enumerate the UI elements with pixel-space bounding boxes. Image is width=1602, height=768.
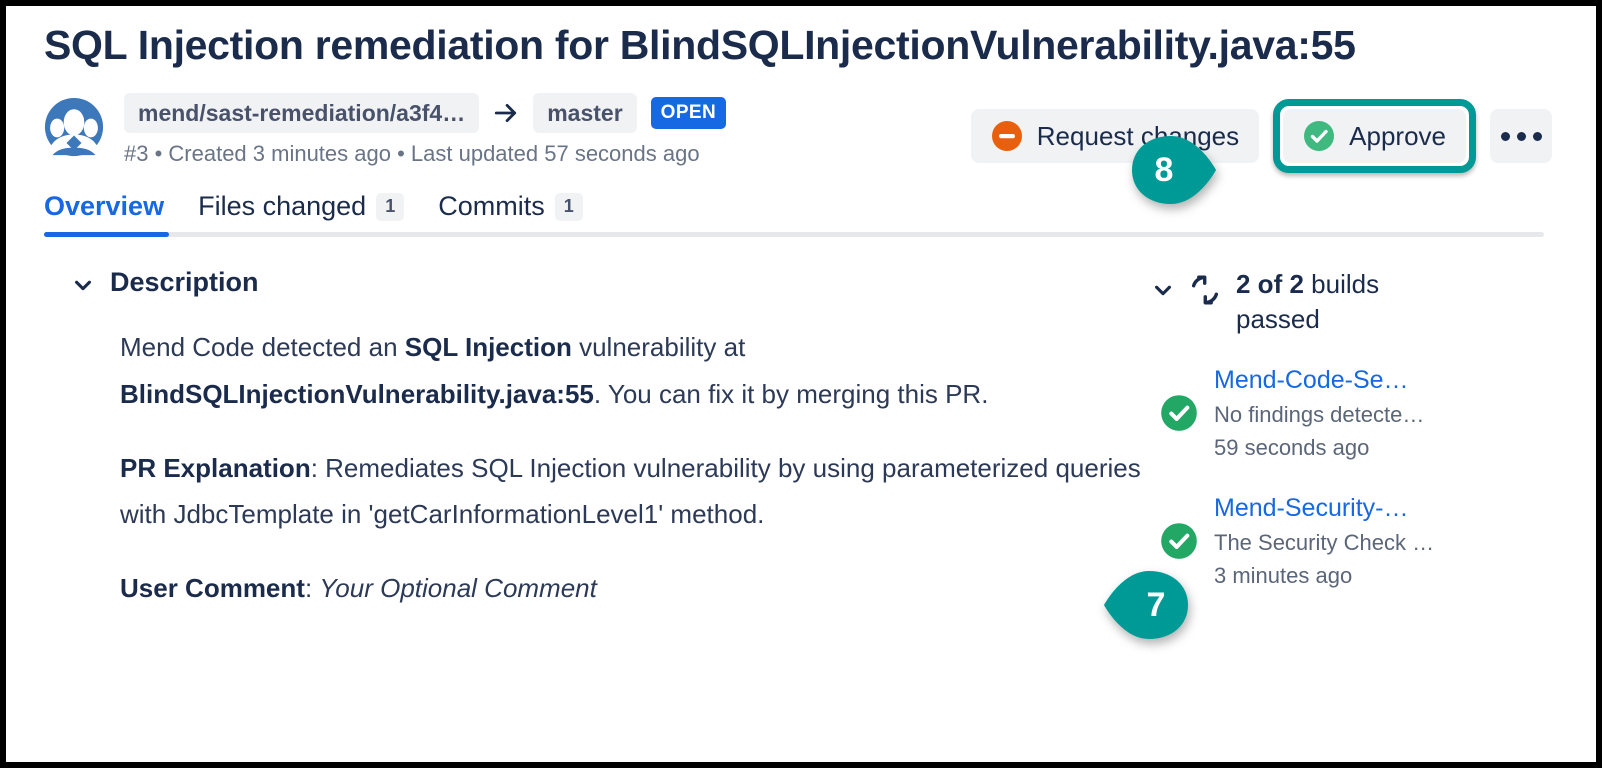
desc-p1-text3: . You can fix it by merging this PR. (594, 379, 989, 409)
source-branch-chip[interactable]: mend/sast-remediation/a3f4… (124, 93, 479, 133)
callout-number: 7 (1113, 571, 1199, 639)
callout-marker-8: 8 (1130, 136, 1216, 204)
page-title: SQL Injection remediation for BlindSQLIn… (44, 20, 1570, 71)
ellipsis-icon (1501, 132, 1510, 141)
tab-files-changed-count: 1 (376, 193, 404, 221)
build-item-text: Mend-Code-Se… No findings detecte… 59 se… (1214, 362, 1424, 464)
check-circle-icon (1160, 522, 1198, 560)
tab-commits-count: 1 (555, 193, 583, 221)
tab-indicator-track (44, 232, 1544, 237)
user-comment-sep: : (305, 573, 319, 603)
build-item-text: Mend-Security-… The Security Check … 3 m… (1214, 490, 1434, 592)
description-paragraph-1: Mend Code detected an SQL Injection vuln… (120, 324, 1142, 417)
team-avatar (44, 97, 104, 157)
user-comment-label: User Comment (120, 573, 305, 603)
tab-active-indicator (44, 232, 169, 237)
tab-overview[interactable]: Overview (44, 191, 164, 232)
build-timestamp: 3 minutes ago (1214, 559, 1434, 592)
description-paragraph-3: User Comment: Your Optional Comment (120, 565, 1142, 611)
sync-icon (1188, 273, 1222, 307)
branch-info: mend/sast-remediation/a3f4… master OPEN … (124, 93, 726, 167)
build-timestamp: 59 seconds ago (1214, 431, 1424, 464)
callout-marker-7: 7 (1104, 571, 1190, 639)
approve-label: Approve (1349, 121, 1446, 152)
builds-summary-text: 2 of 2 builds passed (1236, 267, 1446, 336)
pr-explanation-label: PR Explanation (120, 453, 311, 483)
tab-files-changed[interactable]: Files changed 1 (198, 191, 404, 232)
description-paragraph-2: PR Explanation: Remediates SQL Injection… (120, 445, 1142, 538)
desc-p1-bold2: BlindSQLInjectionVulnerability.java:55 (120, 379, 594, 409)
branch-line: mend/sast-remediation/a3f4… master OPEN (124, 93, 726, 133)
build-description: The Security Check … (1214, 526, 1434, 559)
desc-p1-bold1: SQL Injection (405, 332, 572, 362)
tab-bar: Overview Files changed 1 Commits 1 (44, 191, 1570, 237)
pr-body: Description Mend Code detected an SQL In… (32, 267, 1570, 611)
description-title: Description (110, 267, 259, 298)
target-branch-chip[interactable]: master (533, 93, 636, 133)
more-actions-button[interactable] (1490, 109, 1552, 163)
build-description: No findings detecte… (1214, 398, 1424, 431)
builds-summary[interactable]: 2 of 2 builds passed (1152, 267, 1570, 336)
tab-commits[interactable]: Commits 1 (438, 191, 583, 232)
ellipsis-icon (1533, 132, 1542, 141)
arrow-right-icon (493, 100, 519, 126)
callout-number: 8 (1121, 136, 1207, 204)
status-badge: OPEN (651, 97, 726, 129)
description-text: Mend Code detected an SQL Injection vuln… (120, 324, 1142, 611)
build-name-link[interactable]: Mend-Code-Se… (1214, 362, 1424, 398)
chevron-down-icon[interactable] (1152, 279, 1174, 301)
ellipsis-icon (1517, 132, 1526, 141)
pull-request-meta: mend/sast-remediation/a3f4… master OPEN … (44, 93, 1570, 167)
approve-button[interactable]: Approve (1283, 109, 1466, 163)
desc-p1-text1: Mend Code detected an (120, 332, 405, 362)
check-circle-icon (1160, 394, 1198, 432)
description-header[interactable]: Description (72, 267, 1142, 298)
chevron-down-icon (72, 272, 94, 294)
pr-action-bar: Request changes Approve (971, 99, 1552, 173)
tab-commits-label: Commits (438, 191, 545, 222)
tab-overview-label: Overview (44, 191, 164, 222)
builds-panel: 2 of 2 builds passed Mend-Code-Se… No fi… (1142, 267, 1570, 611)
pr-timestamps: #3 • Created 3 minutes ago • Last update… (124, 141, 726, 167)
description-section: Description Mend Code detected an SQL In… (32, 267, 1142, 611)
minus-circle-icon (991, 120, 1023, 152)
user-comment-value: Your Optional Comment (319, 573, 596, 603)
build-name-link[interactable]: Mend-Security-… (1214, 490, 1434, 526)
build-list-item[interactable]: Mend-Code-Se… No findings detecte… 59 se… (1152, 362, 1570, 464)
check-circle-icon (1303, 120, 1335, 152)
build-list-item[interactable]: Mend-Security-… The Security Check … 3 m… (1152, 490, 1570, 592)
desc-p1-text2: vulnerability at (572, 332, 745, 362)
tab-files-changed-label: Files changed (198, 191, 366, 222)
approve-button-highlight: Approve (1273, 99, 1476, 173)
builds-count: 2 of 2 (1236, 269, 1304, 299)
pull-request-screenshot: SQL Injection remediation for BlindSQLIn… (0, 0, 1602, 768)
